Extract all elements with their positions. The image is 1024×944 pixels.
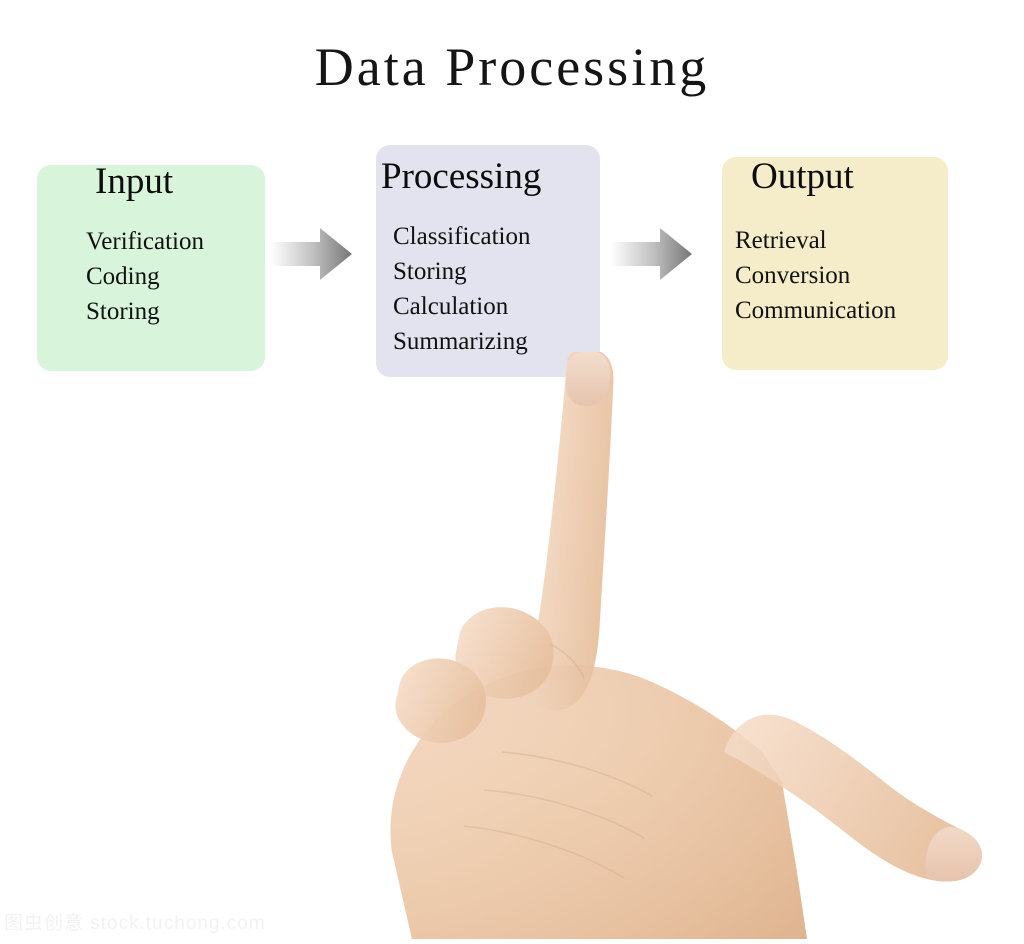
- list-item: Coding: [86, 259, 204, 294]
- stage-items-processing: Classification Storing Calculation Summa…: [393, 219, 530, 359]
- arrow-right-icon: [270, 226, 352, 282]
- list-item: Conversion: [735, 258, 896, 293]
- list-item: Verification: [86, 224, 204, 259]
- list-item: Storing: [393, 254, 530, 289]
- list-item: Calculation: [393, 289, 530, 324]
- list-item: Retrieval: [735, 223, 896, 258]
- stage-heading-input: Input: [95, 163, 173, 200]
- stage-items-output: Retrieval Conversion Communication: [735, 223, 896, 328]
- stage-items-input: Verification Coding Storing: [86, 224, 204, 329]
- list-item: Communication: [735, 293, 896, 328]
- list-item: Storing: [86, 294, 204, 329]
- arrow-right-icon: [610, 226, 692, 282]
- stage-heading-processing: Processing: [381, 158, 541, 195]
- list-item: Classification: [393, 219, 530, 254]
- pointing-hand-image: [352, 352, 1024, 939]
- watermark: 图虫创意 stock.tuchong.com: [4, 908, 266, 935]
- stage-heading-output: Output: [751, 158, 854, 195]
